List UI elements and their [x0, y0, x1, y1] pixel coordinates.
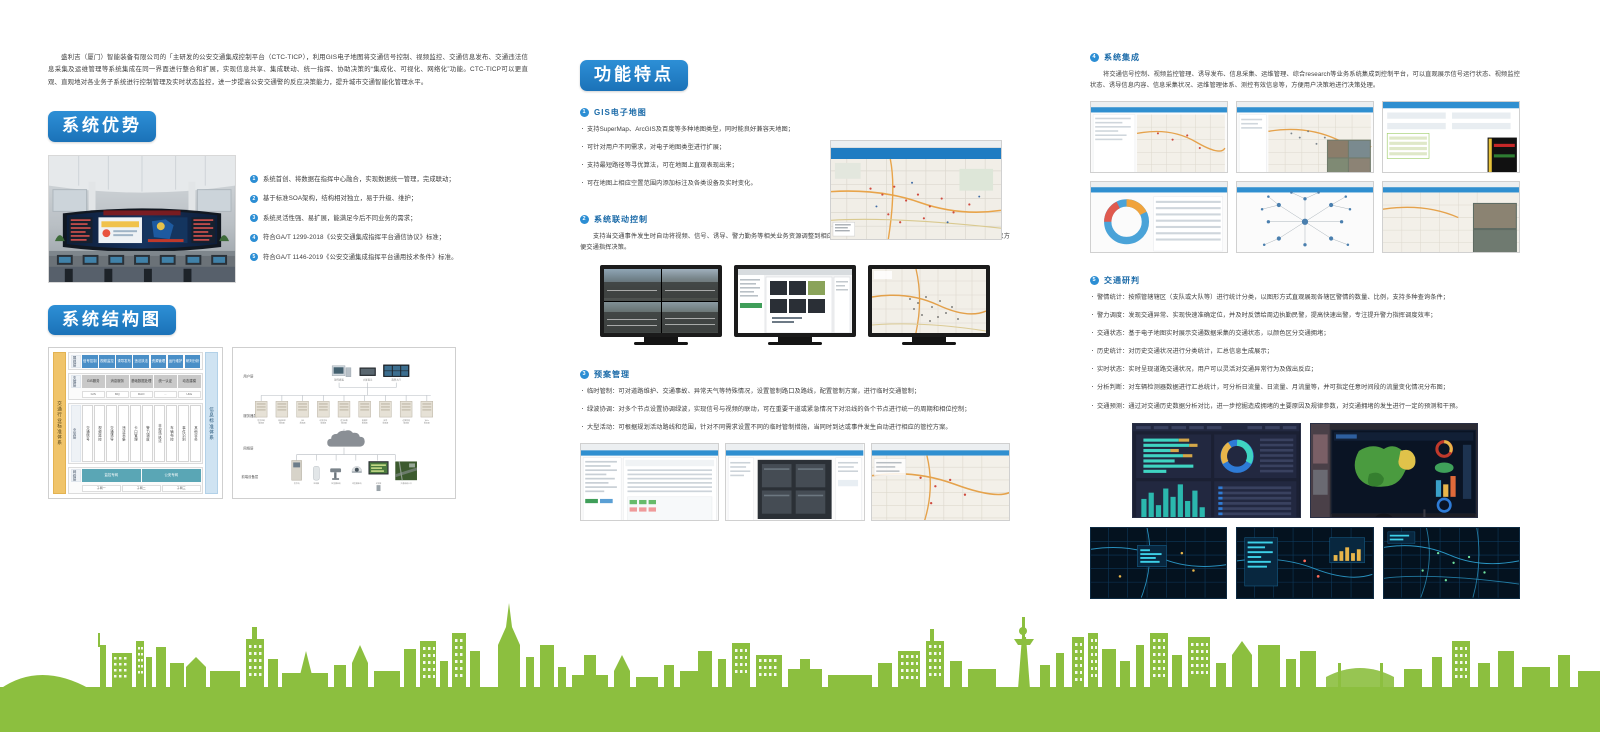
arch-layer-network: 网络层 监控专网 公安专网 子网一 子网二 子网三: [68, 467, 203, 495]
dark-map-art-2: [1237, 528, 1372, 598]
middle-column: 功能特点 1 GIS电子地图 支持SuperMap、ArcGIS及百度等多种地图…: [580, 0, 1010, 521]
integration-screenshot-4: [1090, 181, 1228, 253]
svg-text:诱导发布: 诱导发布: [320, 418, 328, 422]
arch-cell: 基础数据处理: [130, 375, 153, 388]
feature-system-integration: 4 系统集成 将交通信号控制、视频监控管理、诱导发布、信息采集、运维管理、综合r…: [1090, 52, 1520, 253]
arch-cell: 信号控制: [82, 355, 98, 368]
arch-cell: 违法执法: [133, 355, 149, 368]
architecture-diagram: 交通行业标准体系 展现层 信号控制 视频监控 诱导发布 违法执法 资源管理 运行…: [48, 347, 223, 499]
arch-cell: 研判分析: [185, 355, 201, 368]
arch-cell: 诱导发布: [116, 355, 132, 368]
brochure-page: 盛利吉（厦门）智能装备有限公司的「主研发的公安交通集成控制平台（CTC-TICP…: [0, 0, 1600, 732]
monitor-screen: [734, 265, 856, 337]
arch-cell: 监控专网: [82, 469, 141, 482]
bullet-number: 2: [250, 195, 258, 203]
feature-title: 系统集成: [1104, 52, 1140, 63]
camera-feed: [604, 269, 661, 301]
dark-map-row: [1090, 527, 1520, 599]
list-item: 交通预测：通过对交通历史数据分析对比，进一步挖掘造成拥堵的主要原因及规律参数，对…: [1090, 402, 1520, 412]
layer-tag: 网络层: [71, 469, 81, 482]
camera-quad-view: [604, 269, 718, 333]
svg-text:运维管理: 运维管理: [402, 418, 410, 422]
camera-feed: [604, 302, 661, 334]
command-center-photo: [48, 155, 236, 283]
feature-number: 2: [580, 215, 589, 224]
arch-cell: 交通诱导: [106, 405, 117, 461]
right-column: 4 系统集成 将交通信号控制、视频监控管理、诱导发布、信息采集、运维管理、综合r…: [1090, 0, 1520, 599]
intro-paragraph: 盛利吉（厦门）智能装备有限公司的「主研发的公安交通集成控制平台（CTC-TICP…: [48, 52, 528, 89]
feature-title: 交通研判: [1104, 275, 1140, 286]
footer-skyline: [0, 597, 1600, 732]
list-item: 分析判断：对车辆检测器数据进行汇总统计，可分析日流量、日流量、月流量等，并可指定…: [1090, 383, 1520, 393]
arch-cell: 统一认证: [154, 375, 177, 388]
features-badge-wrap: 功能特点: [580, 60, 1010, 91]
integration-screenshot-6: [1382, 181, 1520, 253]
integration-ui-6: [1383, 182, 1519, 253]
arch-layer-presentation: 展现层 信号控制 视频监控 诱导发布 违法执法 资源管理 运行维护 研判分析: [68, 352, 203, 370]
arch-cell: 警力调度: [142, 405, 153, 461]
arch-cell: 公安专网: [142, 469, 201, 482]
plan-screenshot-row: [580, 443, 1010, 521]
dark-map-art-1: [1091, 528, 1226, 598]
section-badge-features: 功能特点: [580, 60, 688, 91]
arch-mini: Utils: [178, 391, 201, 398]
arch-mini: 子网二: [122, 485, 161, 492]
section-badge-advantage: 系统优势: [48, 111, 156, 142]
feature-title: 系统联动控制: [594, 214, 648, 225]
list-item-text: 系统首创、将数据在指挥中心融合，实现数据统一管理，完成联动；: [263, 175, 455, 185]
feature-title: 预案管理: [594, 369, 630, 380]
arch-layer-business: 业务层 交通信号 视频监控 交通诱导 违法采集 卡口管理 警力调度 非现场执法 …: [68, 403, 203, 464]
monitor-screen: [868, 265, 990, 337]
feature-gis-map: 1 GIS电子地图 支持SuperMap、ArcGIS及百度等多种地图类型，同时…: [580, 107, 1010, 189]
bullet-number: 5: [250, 253, 258, 261]
list-item: 警情统计：按照管辖辖区（支队或大队等）进行统计分类，以图形方式直观展现各辖区警情…: [1090, 293, 1520, 303]
list-item: 警力调度：发现交通异常、实现快速准确定位，并及时反馈给周边执勤民警，提高快速出警…: [1090, 311, 1520, 321]
arch-mini: 子网三: [162, 485, 201, 492]
integration-ui-4: [1091, 182, 1227, 253]
topo-row-label: 网络层: [243, 446, 254, 451]
layer-tag: 支撑层: [71, 375, 81, 388]
list-item: 可在地图上相应空置范围内添加标注及各类设备及实时变化。: [580, 179, 812, 189]
svg-text:信号控制: 信号控制: [257, 418, 265, 422]
svg-text:指挥大厅: 指挥大厅: [392, 378, 402, 382]
list-item: 临时管制：可对道路维护、交通事故、异常天气等特殊情况，设置管制路口及路线，配置管…: [580, 387, 1010, 397]
bullet-number: 4: [250, 234, 258, 242]
feature-number: 3: [580, 370, 589, 379]
list-item: 绿波协调：对多个节点设置协调绿波，实现信号与视频的联动，可在重要干道或紧急情况下…: [580, 405, 1010, 415]
monitor-base: [902, 342, 956, 345]
list-item: 交通状态：基于电子地图实时展示交通数据采集的交通状态，以颜色区分交通拥堵；: [1090, 329, 1520, 339]
network-cloud-icon: [327, 431, 364, 447]
monitor-base: [768, 342, 822, 345]
skyline-art: [0, 597, 1600, 732]
list-item-text: 符合GA/T 1299-2018《公安交通集成指挥平台通信协议》标准；: [263, 233, 445, 243]
list-item-text: 基于标准SOA架构，结构相对独立，易于升级、维护；: [263, 194, 417, 204]
svg-text:违法采集: 违法采集: [340, 418, 348, 422]
arch-cell: 消息服务: [106, 375, 129, 388]
svg-text:大屏显示: 大屏显示: [363, 378, 373, 382]
monitor-screen: [600, 265, 722, 337]
monitor-camera-quad: [600, 265, 722, 345]
list-item: 5 符合GA/T 1146-2019《公安交通集成指挥平台通用技术条件》标准。: [250, 253, 528, 263]
arch-mini: DAO: [130, 391, 153, 398]
topology-art: 用户层 服务器层 网络层 前端设备层: [237, 352, 451, 494]
plan-map-screenshot: [871, 443, 1010, 521]
svg-text:操作终端: 操作终端: [334, 378, 344, 382]
map-art: [831, 159, 1001, 239]
arch-cell: 事件识别: [178, 405, 189, 461]
svg-text:数据库: 数据库: [362, 418, 368, 422]
feature-plan-management: 3 预案管理 临时管制：可对道路维护、交通事故、异常天气等特殊情况，设置管制路口…: [580, 369, 1010, 521]
network-topology-diagram: 用户层 服务器层 网络层 前端设备层: [232, 347, 456, 499]
left-column: 盛利吉（厦门）智能装备有限公司的「主研发的公安交通集成控制平台（CTC-TICP…: [48, 0, 528, 499]
monitor-base: [634, 342, 688, 345]
integration-ui-5: [1237, 182, 1373, 253]
feature-heading: 3 预案管理: [580, 369, 1010, 380]
list-item: 4 符合GA/T 1299-2018《公安交通集成指挥平台通信协议》标准；: [250, 233, 528, 243]
arch-cell: 动态建模: [178, 375, 201, 388]
integration-screenshot-1: [1090, 101, 1228, 173]
app-header-bar: [831, 148, 1001, 159]
feature-traffic-analysis: 5 交通研判 警情统计：按照管辖辖区（支队或大队等）进行统计分类，以图形方式直观…: [1090, 275, 1520, 599]
dark-map-screenshot-3: [1383, 527, 1520, 599]
list-item-text: 符合GA/T 1146-2019《公安交通集成指挥平台通用技术条件》标准。: [263, 253, 458, 263]
list-item: 1 系统首创、将数据在指挥中心融合，实现数据统一管理，完成联动；: [250, 175, 528, 185]
arch-cell: 非现场执法: [154, 405, 165, 461]
arch-mini: MQ: [106, 391, 129, 398]
arch-cell: GIS服务: [82, 375, 105, 388]
dark-map-art-3: [1384, 528, 1519, 598]
feature-paragraph: 将交通信号控制、视频监控管理、诱导发布、信息采集、运维管理、综合research…: [1090, 70, 1520, 91]
list-item: 支持SuperMap、ArcGIS及百度等多种地图类型，同时能良好兼容天地图；: [580, 125, 812, 135]
arch-cell: 运行维护: [168, 355, 184, 368]
monitor-signal-control: [734, 265, 856, 345]
integration-ui-2: [1237, 102, 1373, 173]
browser-chrome: [831, 141, 1001, 149]
plan-map-ui: [872, 444, 1009, 521]
arch-cell: 资源管理: [151, 355, 167, 368]
bullet-number: 3: [250, 214, 258, 222]
feature-heading: 5 交通研判: [1090, 275, 1520, 286]
camera-feed: [662, 269, 719, 301]
integration-screenshot-2: [1236, 101, 1374, 173]
layer-tag: 业务层: [71, 405, 81, 461]
integration-screenshot-grid: [1090, 101, 1520, 253]
plan-config-ui: [581, 444, 718, 521]
intersection-plan-ui: [726, 444, 863, 521]
feature-heading: 1 GIS电子地图: [580, 107, 1010, 118]
map-canvas: [831, 159, 1001, 238]
layer-tag: 展现层: [71, 355, 81, 368]
feature-title: GIS电子地图: [594, 107, 647, 118]
svg-text:检测器: 检测器: [314, 481, 320, 485]
arch-mini: 子网一: [82, 485, 121, 492]
svg-text:枪型摄像机: 枪型摄像机: [331, 481, 340, 485]
arch-mini: GIS: [82, 391, 105, 398]
camera-feed: [662, 302, 719, 334]
svg-text:诱导屏: 诱导屏: [376, 481, 382, 485]
integration-ui-1: [1091, 102, 1227, 173]
feature-number: 4: [1090, 53, 1099, 62]
arch-cell: 视频监控: [99, 355, 115, 368]
list-item-text: 系统灵活性强、易扩展，能满足今后不同业务的需求；: [263, 214, 417, 224]
analytics-dashboard-art: [1133, 424, 1300, 518]
section-badge-structure: 系统结构图: [48, 305, 176, 336]
bigscreen-photo-art: [1311, 424, 1478, 518]
svg-text:球型摄像机: 球型摄像机: [352, 481, 361, 485]
arch-cell: 其他业务: [190, 405, 201, 461]
advantage-row: 1 系统首创、将数据在指挥中心融合，实现数据统一管理，完成联动； 2 基于标准S…: [48, 155, 528, 283]
plan-config-screenshot: [580, 443, 719, 521]
svg-text:信号机: 信号机: [294, 481, 300, 485]
signal-control-ui: [738, 269, 852, 337]
arch-cell: 视频监控: [94, 405, 105, 461]
integration-screenshot-5: [1236, 181, 1374, 253]
arch-cell: 车辆布控: [166, 405, 177, 461]
map-ui: [872, 269, 986, 337]
list-item: 实时状态：实时呈现道路交通状况，用户可以灵活对交通异常行为及做出反应；: [1090, 365, 1520, 375]
feature-number: 1: [580, 108, 589, 117]
bigscreen-photo: [1310, 423, 1479, 518]
topo-row-label: 前端设备层: [241, 475, 258, 480]
svg-text:交通视频卡口: 交通视频卡口: [401, 481, 412, 485]
structure-diagrams: 交通行业标准体系 展现层 信号控制 视频监控 诱导发布 违法执法 资源管理 运行…: [48, 347, 528, 499]
dark-map-screenshot-1: [1090, 527, 1227, 599]
analytics-screenshot-row: [1090, 423, 1520, 518]
list-item: 2 基于标准SOA架构，结构相对独立，易于升级、维护；: [250, 194, 528, 204]
list-item: 3 系统灵活性强、易扩展，能满足今后不同业务的需求；: [250, 214, 528, 224]
dark-map-screenshot-2: [1236, 527, 1373, 599]
arch-cell: 交通信号: [82, 405, 93, 461]
integration-screenshot-3: [1382, 101, 1520, 173]
bullet-number: 1: [250, 175, 258, 183]
advantage-badge-wrap: 系统优势: [48, 111, 528, 142]
arch-right-label: 信息标准体系: [205, 352, 218, 494]
arch-cell: 卡口管理: [130, 405, 141, 461]
arch-layer-support: 支撑层 GIS服务 消息服务 基础数据处理 统一认证 动态建模: [68, 373, 203, 401]
analytics-dashboard-screenshot: [1132, 423, 1301, 518]
command-center-photo-art: [49, 156, 235, 283]
svg-text:视频监控: 视频监控: [278, 418, 286, 422]
svg-text:应用: 应用: [384, 418, 388, 422]
structure-badge-wrap: 系统结构图: [48, 305, 528, 336]
arch-left-label: 交通行业标准体系: [53, 352, 66, 494]
monitor-row: [580, 265, 1010, 345]
monitor-gis-map: [868, 265, 990, 345]
list-item: 历史统计：对历史交通状况进行分类统计，汇总信息生成展示；: [1090, 347, 1520, 357]
topo-row-label: 用户层: [243, 374, 254, 379]
list-item: 支持最短路径等寻优算法，可在地图上直观表现出来；: [580, 161, 812, 171]
arch-cell: 违法采集: [118, 405, 129, 461]
feature-heading: 4 系统集成: [1090, 52, 1520, 63]
list-item: 可针对用户不同需求，对电子地图类型进行扩展；: [580, 143, 812, 153]
arch-mini: ...: [154, 391, 177, 398]
integration-ui-3: [1383, 102, 1519, 173]
advantage-list: 1 系统首创、将数据在指挥中心融合，实现数据统一管理，完成联动； 2 基于标准S…: [250, 155, 528, 273]
list-item: 大型活动：可根据规划活动路线和范围，针对不同需求设置不同的临时管制措施，当同时到…: [580, 423, 1010, 433]
intersection-plan-screenshot: [725, 443, 864, 521]
feature-number: 5: [1090, 276, 1099, 285]
gis-map-screenshot: [830, 140, 1002, 240]
